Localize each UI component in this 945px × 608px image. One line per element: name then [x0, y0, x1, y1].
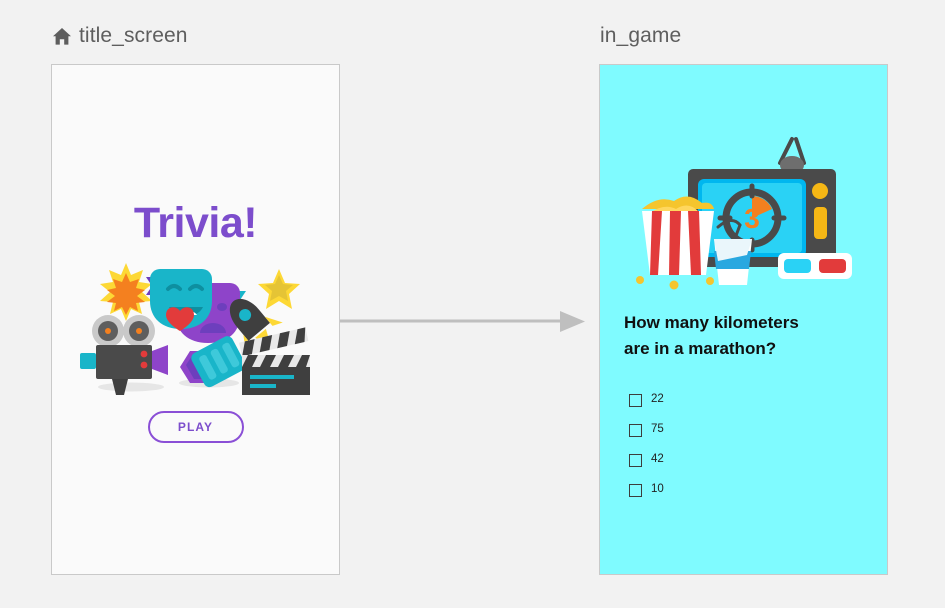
home-icon	[52, 27, 72, 46]
screen-label-text: in_game	[600, 25, 681, 46]
screen-label-text: title_screen	[79, 25, 188, 46]
screen-label-in-game: in_game	[600, 25, 681, 46]
tv-popcorn-countdown-illustration: 3	[628, 131, 858, 293]
flow-arrow	[340, 310, 585, 334]
screen-frame-title-screen[interactable]: Trivia!	[51, 64, 340, 575]
play-button[interactable]: PLAY	[148, 411, 244, 443]
answer-checkbox[interactable]	[629, 394, 642, 407]
answer-option-row[interactable]: 10	[629, 475, 829, 505]
flow-canvas: title_screen in_game Trivia!	[0, 0, 945, 608]
screen-label-title-screen: title_screen	[52, 25, 188, 46]
answer-checkbox[interactable]	[629, 454, 642, 467]
movie-trivia-illustration	[76, 255, 316, 400]
answer-option-label: 75	[651, 424, 664, 436]
answer-option-label: 42	[651, 454, 664, 466]
question-text: How many kilometers are in a marathon?	[624, 310, 856, 361]
answer-option-row[interactable]: 42	[629, 445, 829, 475]
answer-option-label: 10	[651, 484, 664, 496]
answer-option-row[interactable]: 22	[629, 385, 829, 415]
answer-checkbox[interactable]	[629, 484, 642, 497]
answer-checkbox[interactable]	[629, 424, 642, 437]
answer-option-label: 22	[651, 394, 664, 406]
question-line-2: are in a marathon?	[624, 336, 856, 362]
svg-text:3: 3	[744, 203, 760, 234]
answer-option-row[interactable]: 75	[629, 415, 829, 445]
answer-options-list: 22 75 42 10	[629, 385, 829, 505]
game-title: Trivia!	[52, 199, 339, 248]
screen-frame-in-game[interactable]: 3	[599, 64, 888, 575]
question-line-1: How many kilometers	[624, 310, 856, 336]
